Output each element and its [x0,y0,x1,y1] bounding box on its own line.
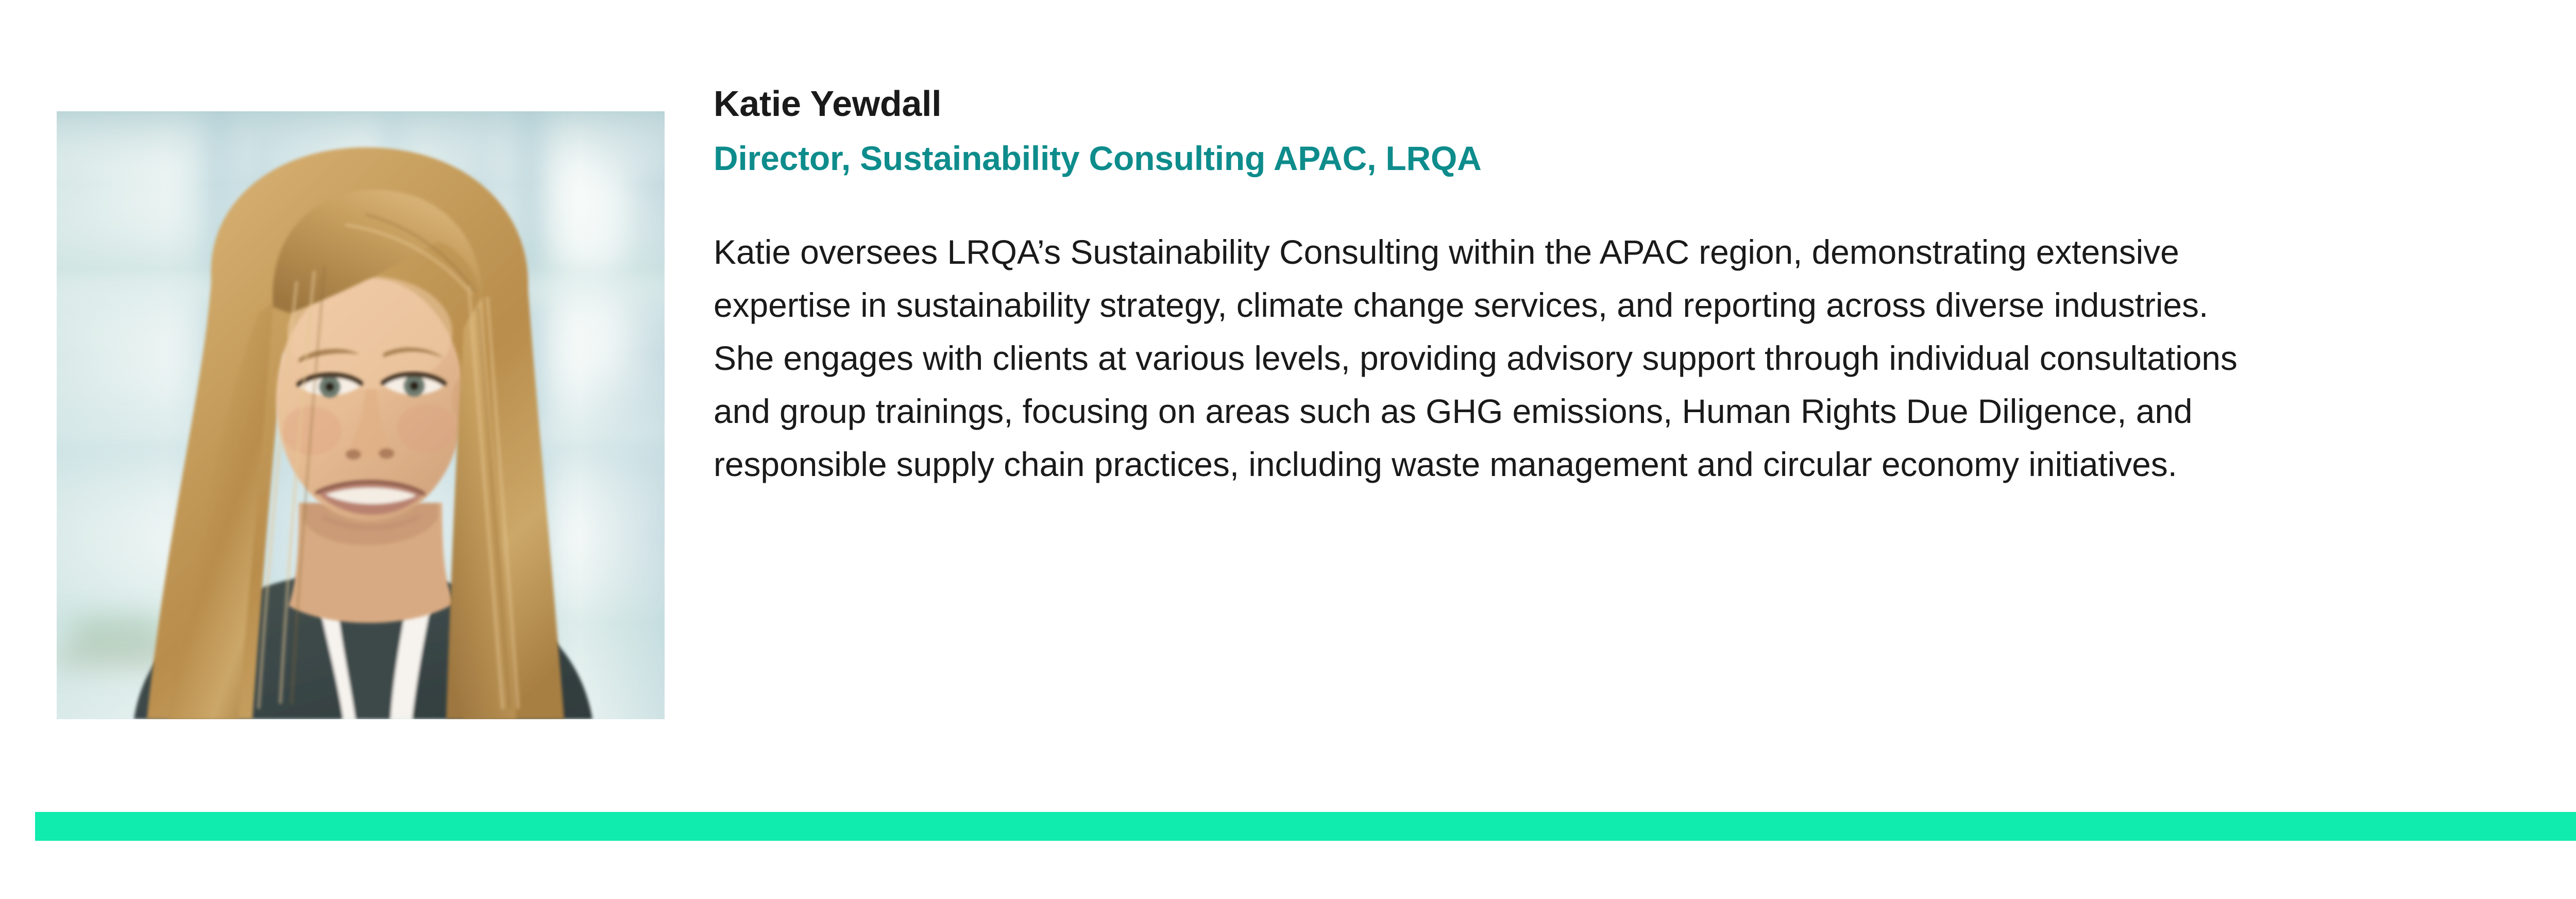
bio-line: responsible supply chain practices, incl… [714,438,2576,491]
portrait-photo: Headshot of Katie Yewdall, a blonde woma… [57,111,665,719]
portrait-photo-frame: Headshot of Katie Yewdall, a blonde woma… [57,111,665,719]
bio-text-column: Katie Yewdall Director, Sustainability C… [714,82,2576,491]
accent-divider-rule [35,812,2576,841]
bio-line: and group trainings, focusing on areas s… [714,385,2576,438]
bio-line: She engages with clients at various leve… [714,332,2576,385]
bio-line: Katie oversees LRQA’s Sustainability Con… [714,226,2576,279]
speaker-bio-card: Headshot of Katie Yewdall, a blonde woma… [0,0,2576,899]
person-bio-paragraph: Katie oversees LRQA’s Sustainability Con… [714,226,2576,491]
person-role-title: Director, Sustainability Consulting APAC… [714,139,2576,179]
person-name: Katie Yewdall [714,82,2576,125]
bio-line: expertise in sustainability strategy, cl… [714,279,2576,332]
